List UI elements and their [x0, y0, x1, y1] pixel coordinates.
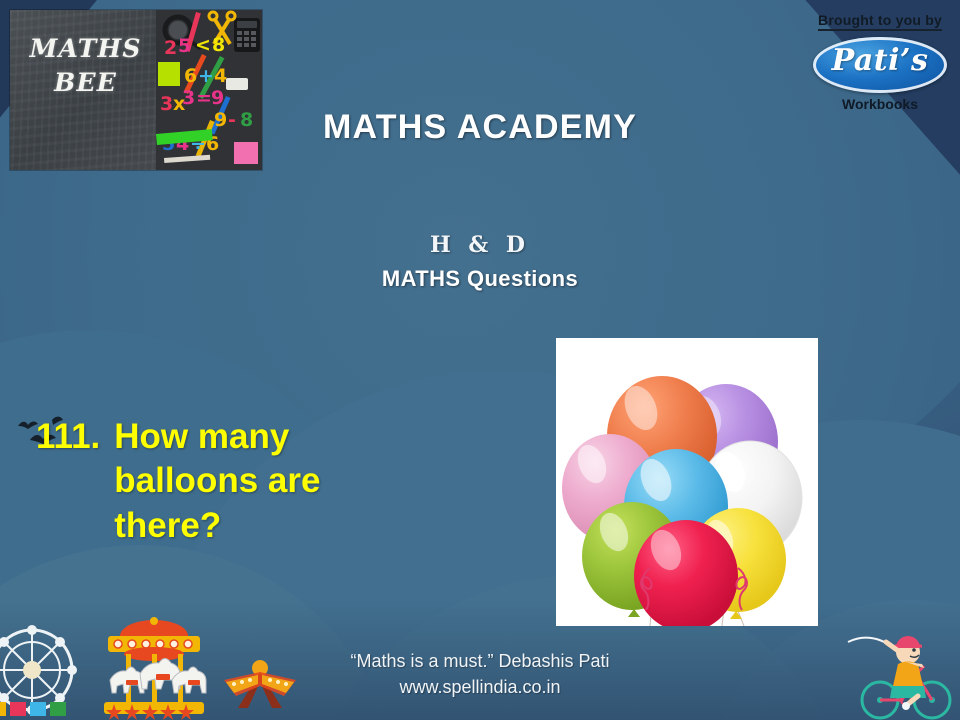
svg-text:+: +	[198, 65, 214, 87]
subtitle-label: MATHS Questions	[0, 266, 960, 292]
question-block: 111. How many balloons are there?	[36, 415, 376, 548]
slide-canvas: MATHS BEE	[0, 0, 960, 720]
child-on-bicycle-icon	[848, 636, 950, 718]
swing-ride-icon	[224, 660, 296, 708]
logo-oval-icon: Pati’s	[813, 37, 947, 93]
svg-text:=: =	[196, 87, 212, 109]
logo-tagline: Brought to you by	[818, 12, 942, 31]
svg-text:6: 6	[184, 65, 197, 87]
svg-text:4: 4	[214, 65, 227, 87]
svg-text:8: 8	[212, 34, 225, 56]
chalkboard-text: MATHS BEE	[10, 32, 161, 100]
page-title: MATHS ACADEMY	[0, 108, 960, 147]
logo-brand-text: Pati’s	[813, 43, 947, 78]
svg-text:9: 9	[211, 87, 224, 109]
cyclist-decoration	[846, 624, 956, 720]
chalkboard-line-2: BEE	[10, 66, 161, 100]
svg-text:<: <	[195, 34, 211, 56]
chalkboard-line-1: MATHS	[10, 32, 161, 66]
ferris-wheel-icon	[0, 625, 77, 716]
carousel-icon	[104, 617, 206, 720]
patis-workbooks-logo: Brought to you by Pati’s Workbooks	[806, 2, 954, 114]
question-number: 111.	[36, 415, 114, 548]
svg-text:5: 5	[178, 35, 191, 57]
subtitle-decorative: H & D	[0, 232, 960, 258]
question-text: How many balloons are there?	[114, 415, 376, 548]
balloons-photo	[556, 338, 818, 626]
svg-text:2: 2	[164, 37, 177, 59]
fairground-decoration	[0, 610, 300, 720]
